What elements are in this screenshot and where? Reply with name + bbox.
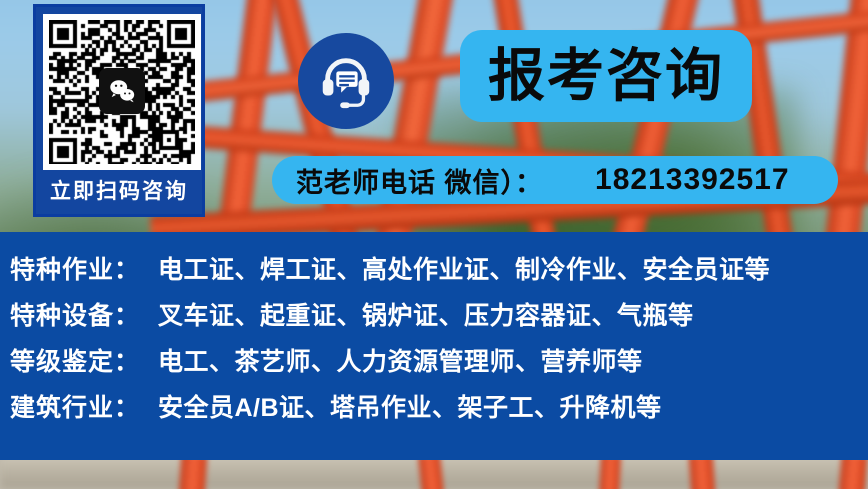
categories-panel: 特种作业： 电工证、焊工证、高处作业证、制冷作业、安全员证等 特种设备： 叉车证… (0, 232, 868, 460)
title-pill: 报考咨询 (460, 30, 752, 122)
contact-phone-number[interactable]: 18213392517 (595, 163, 790, 197)
contact-pill[interactable]: 范老师电话 微信）： 18213392517 (272, 156, 838, 204)
qr-caption: 立即扫码咨询 (43, 170, 195, 214)
category-label: 建筑行业： (10, 388, 158, 424)
page-title: 报考咨询 (488, 48, 724, 105)
category-value: 电工、茶艺师、人力资源管理师、营养师等 (158, 342, 643, 378)
category-value: 叉车证、起重证、锅炉证、压力容器证、气瓶等 (158, 296, 694, 332)
qr-card[interactable]: 立即扫码咨询 (33, 4, 205, 217)
category-label: 特种设备： (10, 296, 158, 332)
qr-code-image[interactable] (43, 14, 201, 170)
category-value: 安全员A/B证、塔吊作业、架子工、升降机等 (158, 388, 662, 424)
category-row: 等级鉴定： 电工、茶艺师、人力资源管理师、营养师等 (10, 342, 868, 388)
category-row: 特种作业： 电工证、焊工证、高处作业证、制冷作业、安全员证等 (10, 250, 868, 296)
contact-label: 范老师电话 微信）： (296, 161, 543, 200)
promo-poster: 立即扫码咨询 报考咨询 范老师电话 微信）： 18213392517 (0, 0, 868, 489)
category-label: 特种作业： (10, 250, 158, 286)
category-label: 等级鉴定： (10, 342, 158, 378)
category-row: 特种设备： 叉车证、起重证、锅炉证、压力容器证、气瓶等 (10, 296, 868, 342)
category-value: 电工证、焊工证、高处作业证、制冷作业、安全员证等 (158, 250, 770, 286)
category-row: 建筑行业： 安全员A/B证、塔吊作业、架子工、升降机等 (10, 388, 868, 434)
wechat-icon (99, 68, 145, 114)
headset-support-icon (298, 33, 394, 129)
